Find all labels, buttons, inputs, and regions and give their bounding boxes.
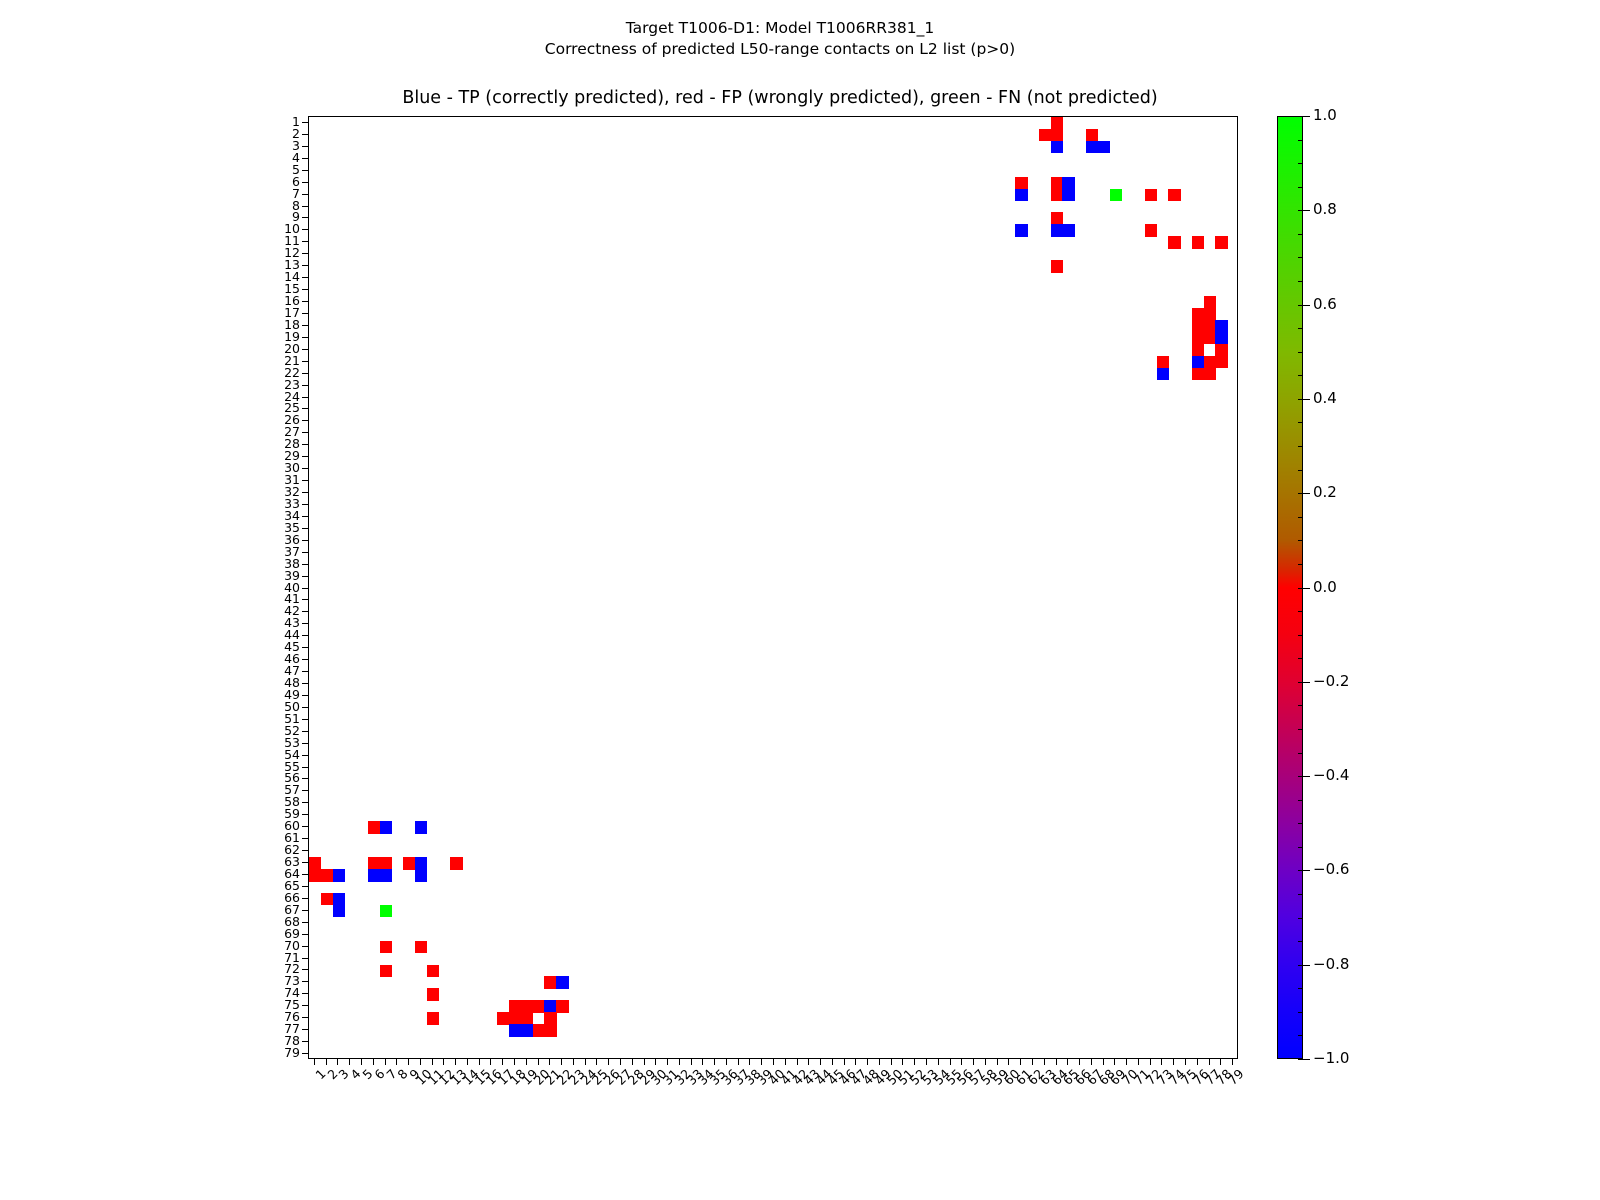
y-tick-mark [302, 1017, 308, 1018]
y-tick-mark [302, 241, 308, 242]
colorbar-minor-tick [1298, 1012, 1303, 1013]
x-tick-mark [926, 1059, 927, 1065]
colorbar-tick-label: −0.2 [1313, 674, 1349, 688]
x-tick-mark [914, 1059, 915, 1065]
x-tick-mark [1067, 1059, 1068, 1065]
x-tick-mark [396, 1059, 397, 1065]
y-tick-label: 79 [260, 1047, 300, 1059]
contact-cell [403, 857, 415, 870]
contact-cell [1086, 141, 1098, 154]
contact-cell [380, 965, 392, 978]
y-tick-mark [302, 623, 308, 624]
colorbar-minor-tick [1298, 470, 1303, 471]
x-tick-mark [644, 1059, 645, 1065]
x-tick-mark [561, 1059, 562, 1065]
y-tick-mark [302, 958, 308, 959]
x-tick-mark [973, 1059, 974, 1065]
x-tick-mark [1056, 1059, 1057, 1065]
y-tick-mark [302, 850, 308, 851]
y-tick-mark [302, 826, 308, 827]
contact-cell [1168, 189, 1180, 202]
y-tick-mark [302, 134, 308, 135]
colorbar-tick-mark [1303, 588, 1310, 589]
x-tick-mark [1044, 1059, 1045, 1065]
colorbar-minor-tick [1298, 305, 1303, 306]
contact-cell [1204, 296, 1216, 309]
colorbar-tick-label: −0.8 [1313, 957, 1349, 971]
contact-cell [380, 941, 392, 954]
x-tick-mark [702, 1059, 703, 1065]
contact-cell [1051, 224, 1063, 237]
colorbar-minor-tick [1298, 1059, 1303, 1060]
colorbar-minor-tick [1298, 823, 1303, 824]
contact-cell [380, 869, 392, 882]
y-tick-mark [302, 934, 308, 935]
colorbar-minor-tick [1298, 116, 1303, 117]
contact-cell [309, 869, 321, 882]
y-tick-mark [302, 790, 308, 791]
x-tick-mark [891, 1059, 892, 1065]
y-tick-mark [302, 158, 308, 159]
y-tick-mark [302, 325, 308, 326]
contact-cell [1192, 332, 1204, 345]
colorbar-minor-tick [1298, 776, 1303, 777]
contact-cell [1204, 308, 1216, 321]
x-tick-mark [1008, 1059, 1009, 1065]
colorbar-tick-mark [1303, 116, 1310, 117]
x-tick-mark [785, 1059, 786, 1065]
y-tick-mark [302, 862, 308, 863]
colorbar-minor-tick [1298, 163, 1303, 164]
figure-subtitle: Blue - TP (correctly predicted), red - F… [0, 88, 1560, 108]
x-tick-mark [797, 1059, 798, 1065]
x-tick-mark [596, 1059, 597, 1065]
colorbar-tick-mark [1303, 776, 1310, 777]
y-tick-mark [302, 444, 308, 445]
contact-cell [415, 821, 427, 834]
y-tick-mark [302, 265, 308, 266]
contact-cell [1145, 224, 1157, 237]
x-tick-mark [997, 1059, 998, 1065]
y-tick-mark [302, 480, 308, 481]
x-tick-mark [632, 1059, 633, 1065]
x-tick-mark [1126, 1059, 1127, 1065]
x-tick-mark [1209, 1059, 1210, 1065]
colorbar-minor-tick [1298, 611, 1303, 612]
contact-cell [321, 893, 333, 906]
y-tick-mark [302, 1029, 308, 1030]
contact-cell [1098, 141, 1110, 154]
y-tick-mark [302, 635, 308, 636]
contact-cell [1051, 129, 1063, 142]
x-tick-mark [538, 1059, 539, 1065]
colorbar-minor-tick [1298, 705, 1303, 706]
x-tick-mark [443, 1059, 444, 1065]
contact-cell [415, 869, 427, 882]
y-tick-mark [302, 647, 308, 648]
x-tick-mark [985, 1059, 986, 1065]
contact-cell [1215, 356, 1227, 369]
x-tick-mark [714, 1059, 715, 1065]
y-tick-mark [302, 504, 308, 505]
contact-cell [1051, 117, 1063, 130]
contact-cell [1051, 260, 1063, 273]
colorbar-tick-mark [1303, 399, 1310, 400]
colorbar-minor-tick [1298, 1035, 1303, 1036]
y-tick-mark [302, 802, 308, 803]
contact-cell [380, 821, 392, 834]
colorbar-minor-tick [1298, 328, 1303, 329]
contact-cell [1086, 129, 1098, 142]
colorbar-minor-tick [1298, 682, 1303, 683]
contact-cell [1204, 332, 1216, 345]
x-tick-mark [773, 1059, 774, 1065]
contact-cell [1215, 236, 1227, 249]
y-tick-mark [302, 946, 308, 947]
x-tick-mark [1232, 1059, 1233, 1065]
contact-cell [1168, 236, 1180, 249]
y-tick-mark [302, 528, 308, 529]
x-tick-mark [455, 1059, 456, 1065]
colorbar-tick-label: 1.0 [1313, 108, 1337, 122]
colorbar-tick-mark [1303, 870, 1310, 871]
contact-cell [1204, 320, 1216, 333]
colorbar-tick-label: 0.8 [1313, 202, 1337, 216]
colorbar-minor-tick [1298, 375, 1303, 376]
contact-cell [544, 1024, 556, 1037]
colorbar-minor-tick [1298, 894, 1303, 895]
colorbar-minor-tick [1298, 140, 1303, 141]
contact-cell [333, 893, 345, 906]
y-tick-mark [302, 301, 308, 302]
y-tick-mark [302, 229, 308, 230]
y-tick-mark [302, 874, 308, 875]
y-tick-mark [302, 1005, 308, 1006]
contact-cell [1051, 212, 1063, 225]
y-tick-mark [302, 576, 308, 577]
colorbar-minor-tick [1298, 729, 1303, 730]
x-tick-mark [314, 1059, 315, 1065]
colorbar-minor-tick [1298, 753, 1303, 754]
y-tick-mark [302, 731, 308, 732]
colorbar-minor-tick [1298, 210, 1303, 211]
y-tick-mark [302, 540, 308, 541]
y-tick-mark [302, 755, 308, 756]
x-tick-mark [879, 1059, 880, 1065]
contact-cell [1215, 332, 1227, 345]
y-tick-mark [302, 1053, 308, 1054]
y-tick-mark [302, 969, 308, 970]
y-tick-mark [302, 611, 308, 612]
colorbar-tick-label: −1.0 [1313, 1051, 1349, 1065]
x-tick-mark [361, 1059, 362, 1065]
y-tick-mark [302, 910, 308, 911]
y-tick-mark [302, 695, 308, 696]
figure-canvas: Target T1006-D1: Model T1006RR381_1 Corr… [0, 0, 1600, 1200]
colorbar-minor-tick [1298, 399, 1303, 400]
contact-cell [521, 1000, 533, 1013]
figure-title: Target T1006-D1: Model T1006RR381_1 Corr… [0, 18, 1560, 60]
colorbar-minor-tick [1298, 493, 1303, 494]
y-tick-mark [302, 337, 308, 338]
colorbar-minor-tick [1298, 281, 1303, 282]
colorbar-minor-tick [1298, 965, 1303, 966]
x-tick-mark [1197, 1059, 1198, 1065]
contact-map-axes [308, 116, 1238, 1059]
colorbar-tick-label: −0.4 [1313, 768, 1349, 782]
y-tick-mark [302, 217, 308, 218]
y-tick-mark [302, 564, 308, 565]
x-tick-mark [961, 1059, 962, 1065]
y-tick-mark [302, 468, 308, 469]
x-tick-mark [655, 1059, 656, 1065]
x-tick-mark [1091, 1059, 1092, 1065]
x-tick-mark [679, 1059, 680, 1065]
contact-cell [509, 1000, 521, 1013]
y-tick-mark [302, 122, 308, 123]
x-tick-mark [1079, 1059, 1080, 1065]
x-tick-mark [902, 1059, 903, 1065]
contact-cell [321, 869, 333, 882]
x-tick-mark [502, 1059, 503, 1065]
x-tick-mark [608, 1059, 609, 1065]
contact-map-cells [309, 117, 1237, 1058]
y-tick-mark [302, 182, 308, 183]
x-tick-mark [432, 1059, 433, 1065]
contact-cell [1157, 356, 1169, 369]
colorbar-minor-tick [1298, 187, 1303, 188]
x-tick-mark [667, 1059, 668, 1065]
x-tick-mark [514, 1059, 515, 1065]
y-tick-mark [302, 767, 308, 768]
colorbar-tick-label: −0.6 [1313, 862, 1349, 876]
x-tick-mark [844, 1059, 845, 1065]
colorbar-minor-tick [1298, 658, 1303, 659]
y-tick-mark [302, 898, 308, 899]
colorbar-minor-tick [1298, 564, 1303, 565]
contact-cell [1192, 356, 1204, 369]
y-tick-mark [302, 206, 308, 207]
colorbar-tick-mark [1303, 965, 1310, 966]
contact-cell [333, 869, 345, 882]
x-tick-mark [738, 1059, 739, 1065]
contact-cell [544, 976, 556, 989]
x-tick-mark [549, 1059, 550, 1065]
contact-cell [1204, 356, 1216, 369]
x-tick-mark [867, 1059, 868, 1065]
y-tick-mark [302, 599, 308, 600]
contact-cell [309, 857, 321, 870]
y-tick-mark [302, 1041, 308, 1042]
x-tick-mark [820, 1059, 821, 1065]
y-tick-mark [302, 277, 308, 278]
contact-cell [521, 1012, 533, 1025]
contact-cell [427, 988, 439, 1001]
contact-cell [1192, 368, 1204, 381]
x-tick-mark [467, 1059, 468, 1065]
x-tick-mark [749, 1059, 750, 1065]
contact-cell [415, 857, 427, 870]
y-tick-mark [302, 194, 308, 195]
contact-cell [1192, 320, 1204, 333]
x-tick-mark [855, 1059, 856, 1065]
y-tick-mark [302, 671, 308, 672]
contact-cell [1015, 189, 1027, 202]
colorbar-tick-label: 0.0 [1313, 580, 1337, 594]
x-tick-mark [326, 1059, 327, 1065]
y-tick-mark [302, 981, 308, 982]
x-tick-mark [373, 1059, 374, 1065]
contact-cell [533, 1024, 545, 1037]
y-tick-mark [302, 456, 308, 457]
y-tick-mark [302, 432, 308, 433]
x-tick-mark [1020, 1059, 1021, 1065]
x-tick-mark [950, 1059, 951, 1065]
x-tick-mark [573, 1059, 574, 1065]
contact-cell [533, 1000, 545, 1013]
y-tick-mark [302, 683, 308, 684]
colorbar-tick-mark [1303, 1059, 1310, 1060]
x-tick-mark [1138, 1059, 1139, 1065]
y-tick-mark [302, 289, 308, 290]
contact-cell [368, 869, 380, 882]
x-tick-mark [761, 1059, 762, 1065]
contact-cell [380, 905, 392, 918]
x-tick-mark [408, 1059, 409, 1065]
colorbar-tick-label: 0.2 [1313, 485, 1337, 499]
colorbar-minor-tick [1298, 234, 1303, 235]
contact-cell [427, 965, 439, 978]
title-line-2: Correctness of predicted L50-range conta… [0, 39, 1560, 60]
colorbar-minor-tick [1298, 870, 1303, 871]
x-tick-mark [1161, 1059, 1162, 1065]
contact-cell [509, 1024, 521, 1037]
x-tick-mark [1220, 1059, 1221, 1065]
contact-cell [427, 1012, 439, 1025]
x-tick-mark [1114, 1059, 1115, 1065]
contact-cell [1062, 189, 1074, 202]
contact-cell [1062, 224, 1074, 237]
x-tick-mark [938, 1059, 939, 1065]
colorbar-minor-tick [1298, 257, 1303, 258]
colorbar-tick-mark [1303, 210, 1310, 211]
x-tick-mark [337, 1059, 338, 1065]
contact-cell [1051, 189, 1063, 202]
y-tick-mark [302, 922, 308, 923]
contact-cell [556, 1000, 568, 1013]
contact-cell [1110, 189, 1122, 202]
x-tick-mark [1185, 1059, 1186, 1065]
contact-cell [509, 1012, 521, 1025]
contact-cell [521, 1024, 533, 1037]
colorbar-minor-tick [1298, 918, 1303, 919]
contact-cell [544, 1000, 556, 1013]
y-tick-mark [302, 253, 308, 254]
x-tick-mark [385, 1059, 386, 1065]
x-tick-mark [585, 1059, 586, 1065]
colorbar-minor-tick [1298, 847, 1303, 848]
x-tick-mark [490, 1059, 491, 1065]
y-tick-mark [302, 707, 308, 708]
y-tick-mark [302, 778, 308, 779]
y-tick-mark [302, 838, 308, 839]
y-tick-mark [302, 420, 308, 421]
x-tick-mark [832, 1059, 833, 1065]
contact-cell [556, 976, 568, 989]
contact-cell [1192, 308, 1204, 321]
colorbar-minor-tick [1298, 988, 1303, 989]
y-tick-mark [302, 146, 308, 147]
colorbar-minor-tick [1298, 540, 1303, 541]
contact-cell [544, 1012, 556, 1025]
y-tick-mark [302, 492, 308, 493]
colorbar-minor-tick [1298, 446, 1303, 447]
x-tick-mark [691, 1059, 692, 1065]
y-tick-mark [302, 814, 308, 815]
contact-cell [1015, 177, 1027, 190]
colorbar-minor-tick [1298, 422, 1303, 423]
colorbar-minor-tick [1298, 941, 1303, 942]
colorbar-tick-label: 0.4 [1313, 391, 1337, 405]
y-tick-mark [302, 516, 308, 517]
y-tick-mark [302, 743, 308, 744]
colorbar-minor-tick [1298, 588, 1303, 589]
y-tick-mark [302, 313, 308, 314]
colorbar-minor-tick [1298, 800, 1303, 801]
x-tick-mark [349, 1059, 350, 1065]
colorbar-minor-tick [1298, 352, 1303, 353]
contact-cell [1192, 236, 1204, 249]
y-tick-mark [302, 361, 308, 362]
contact-cell [415, 941, 427, 954]
colorbar-tick-label: 0.6 [1313, 297, 1337, 311]
contact-cell [1145, 189, 1157, 202]
x-tick-mark [726, 1059, 727, 1065]
x-tick-mark [1173, 1059, 1174, 1065]
x-tick-mark [1150, 1059, 1151, 1065]
y-tick-mark [302, 408, 308, 409]
contact-cell [1051, 141, 1063, 154]
colorbar-minor-tick [1298, 517, 1303, 518]
x-tick-mark [479, 1059, 480, 1065]
contact-cell [1157, 368, 1169, 381]
contact-cell [1062, 177, 1074, 190]
contact-cell [1039, 129, 1051, 142]
y-tick-mark [302, 993, 308, 994]
colorbar-tick-mark [1303, 305, 1310, 306]
y-tick-mark [302, 588, 308, 589]
contact-cell [380, 857, 392, 870]
x-tick-mark [620, 1059, 621, 1065]
title-line-1: Target T1006-D1: Model T1006RR381_1 [0, 18, 1560, 39]
x-tick-mark [1103, 1059, 1104, 1065]
contact-cell [450, 857, 462, 870]
contact-cell [1015, 224, 1027, 237]
colorbar-tick-mark [1303, 682, 1310, 683]
contact-cell [497, 1012, 509, 1025]
contact-cell [368, 857, 380, 870]
y-tick-mark [302, 719, 308, 720]
y-tick-mark [302, 373, 308, 374]
y-tick-mark [302, 397, 308, 398]
x-tick-mark [808, 1059, 809, 1065]
x-tick-mark [1032, 1059, 1033, 1065]
contact-cell [333, 905, 345, 918]
y-tick-mark [302, 552, 308, 553]
contact-cell [1215, 320, 1227, 333]
contact-cell [1204, 368, 1216, 381]
y-tick-mark [302, 659, 308, 660]
